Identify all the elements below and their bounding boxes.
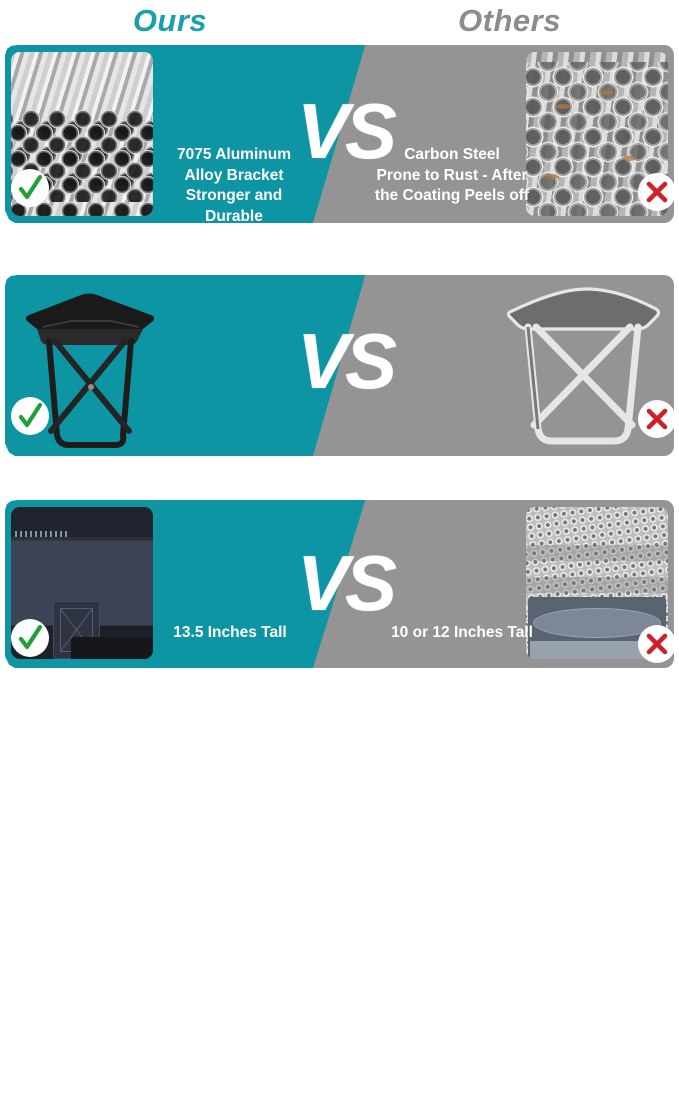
rust-spot [600, 90, 614, 95]
others-caption-height: 10 or 12 Inches Tall [376, 623, 548, 644]
check-icon [15, 401, 45, 431]
caption-line: Easy to Tear [380, 1063, 540, 1084]
cross-icon [644, 406, 670, 432]
rust-spot [622, 156, 636, 161]
cross-icon [644, 179, 670, 205]
header-others: Others [340, 0, 679, 42]
caption-line: Tensile Resistance [158, 1073, 308, 1093]
fabric-stitching [15, 531, 67, 537]
check-badge-material [11, 169, 49, 207]
others-caption-fabric: Easy to Tear [380, 1063, 540, 1084]
caption-line: 10 or 12 Inches Tall [376, 623, 548, 644]
cross-badge-material [638, 173, 676, 211]
caption-line: Stronger and Durable [160, 186, 308, 227]
caption-line: Prone to Rust - After [372, 166, 532, 187]
rust-spot [544, 174, 558, 179]
check-icon [15, 623, 45, 653]
caption-line: Carbon Steel [372, 145, 532, 166]
ours-caption-height: 13.5 Inches Tall [150, 623, 310, 644]
header-ours: Ours [0, 0, 340, 42]
vs-label-fabric: VS [297, 544, 393, 622]
caption-line: Alloy Bracket [160, 166, 308, 187]
cross-badge-height [638, 400, 676, 438]
caption-line: the Coating Peels off [372, 186, 532, 207]
check-icon [15, 173, 45, 203]
cross-badge-fabric [638, 625, 676, 663]
check-badge-fabric [11, 619, 49, 657]
mesh-strip [526, 545, 668, 561]
rust-spot [556, 104, 570, 109]
cross-icon [644, 631, 670, 657]
caption-line: Reinforcement and [158, 1052, 308, 1073]
ours-caption-fabric: Reinforcement and Tensile Resistance [158, 1052, 308, 1093]
others-caption-material: Carbon Steel Prone to Rust - After the C… [372, 145, 532, 207]
vs-label-material: VS [297, 92, 393, 170]
vs-label-height: VS [297, 322, 393, 400]
column-headers: Ours Others [0, 0, 679, 44]
caption-line: 7075 Aluminum [160, 145, 308, 166]
comparison-infographic: Ours Others 7075 Aluminum [0, 0, 679, 672]
caption-line: 13.5 Inches Tall [150, 623, 310, 644]
mesh-strip [526, 577, 668, 593]
check-badge-height [11, 397, 49, 435]
fabric-shadow [71, 637, 153, 659]
ours-caption-material: 7075 Aluminum Alloy Bracket Stronger and… [160, 145, 308, 227]
